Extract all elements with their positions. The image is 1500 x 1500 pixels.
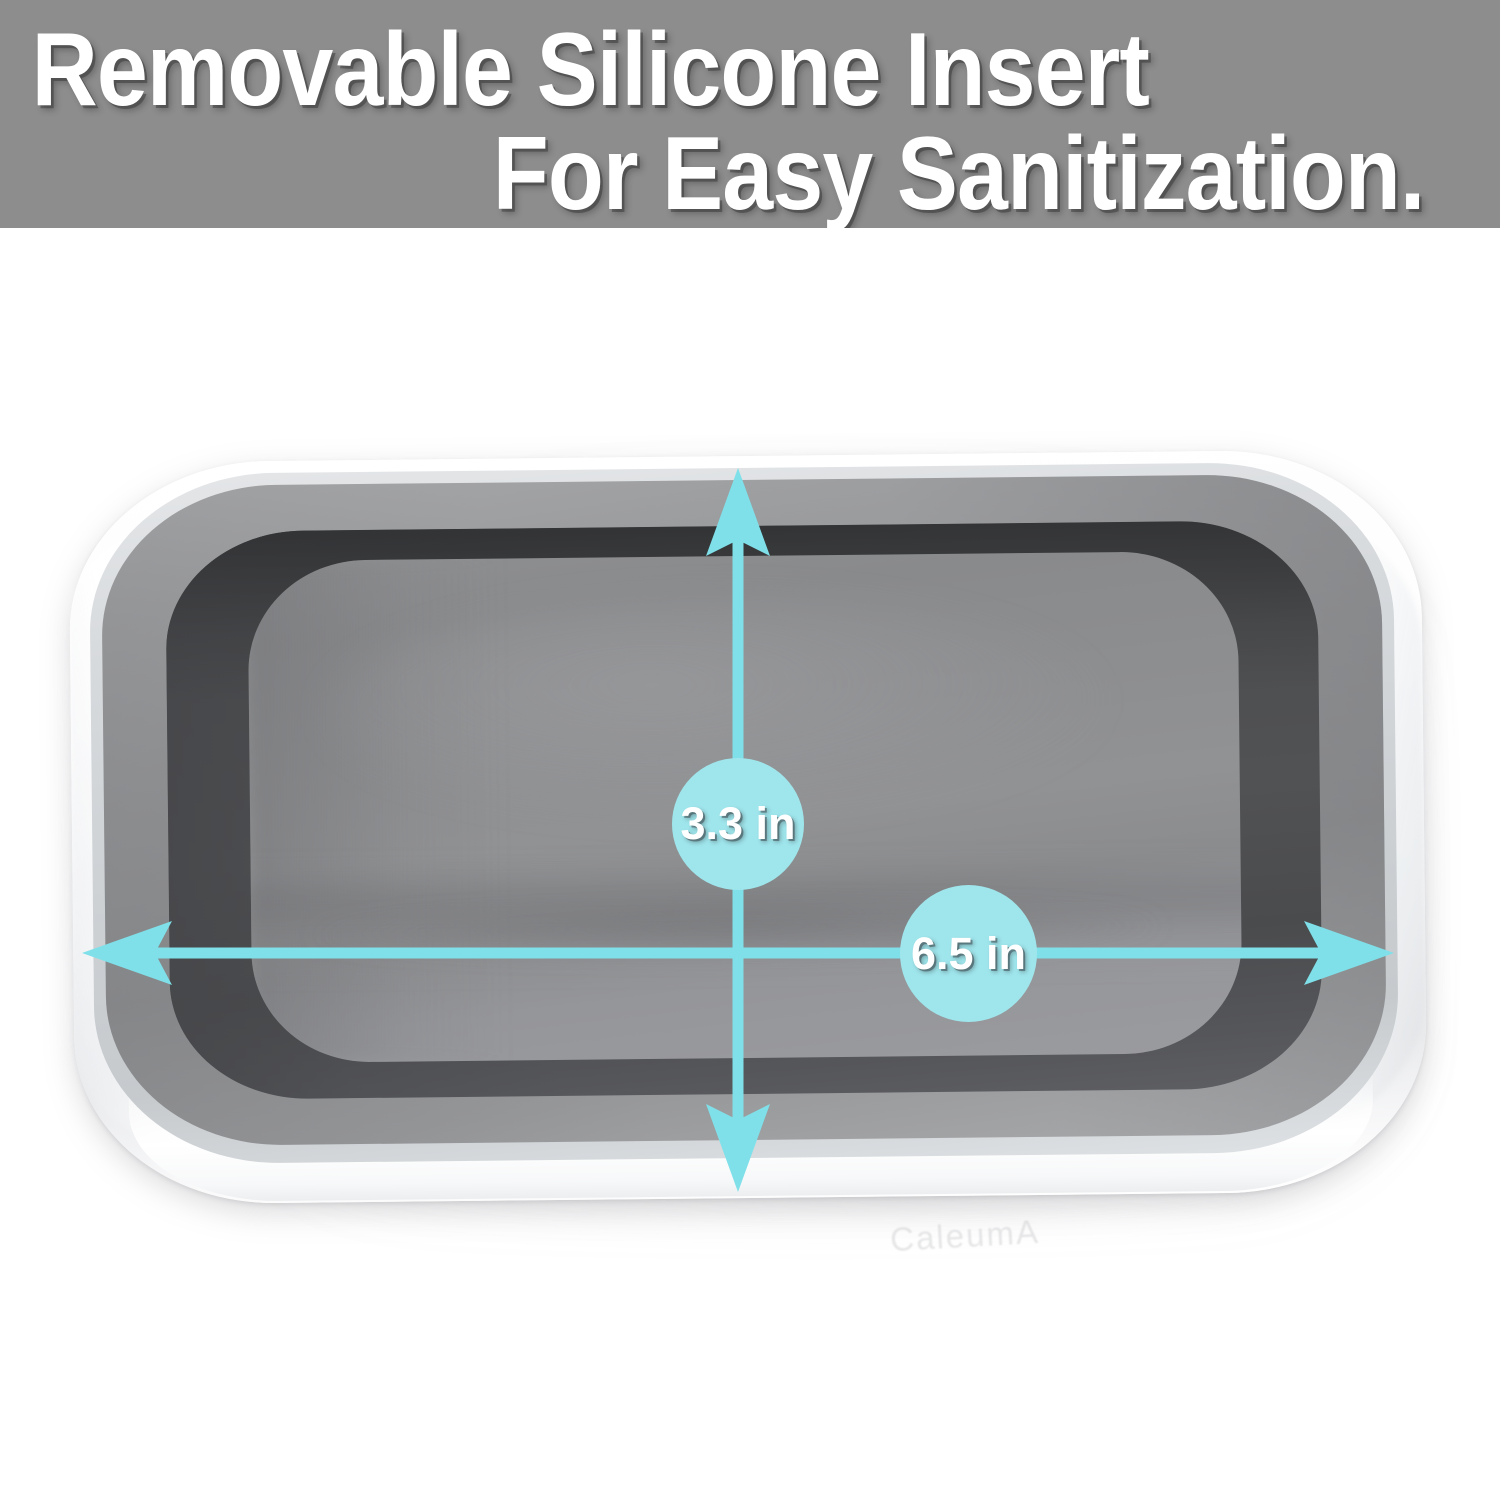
- dimension-overlay: [0, 0, 1500, 1500]
- width-dimension-badge: 6.5 in: [900, 885, 1037, 1022]
- infographic-canvas: Removable Silicone Insert For Easy Sanit…: [0, 0, 1500, 1500]
- height-dimension-label: 3.3 in: [680, 798, 795, 850]
- height-dimension-badge: 3.3 in: [672, 758, 804, 890]
- width-dimension-label: 6.5 in: [911, 928, 1026, 980]
